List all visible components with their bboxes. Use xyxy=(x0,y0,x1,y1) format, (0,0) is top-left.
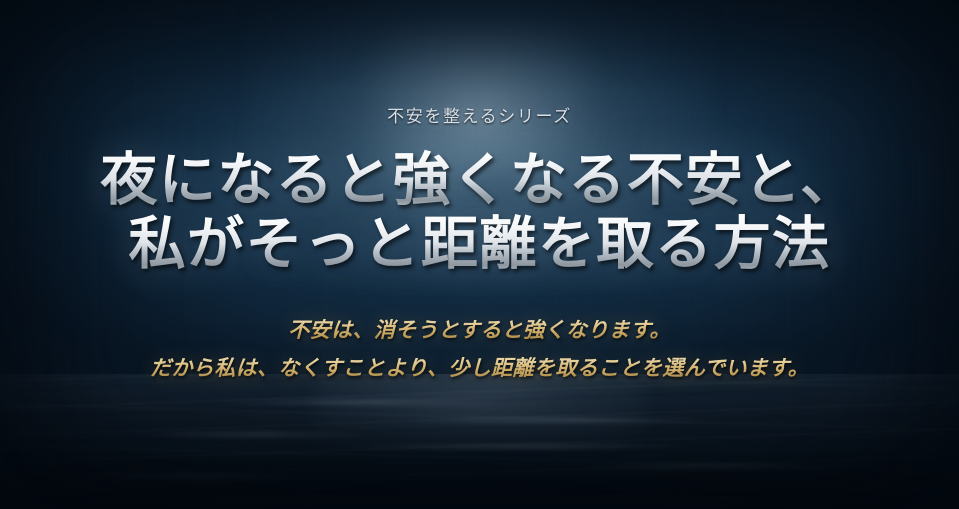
headline-line-1: 夜になると強くなる不安と、 xyxy=(0,149,959,213)
subtitle-line-1: 不安は、消そうとすると強くなります。 xyxy=(0,314,959,348)
page-title: 夜になると強くなる不安と、 私がそっと距離を取る方法 xyxy=(0,149,959,278)
hero-banner: 不安を整えるシリーズ 夜になると強くなる不安と、 私がそっと距離を取る方法 不安… xyxy=(0,0,959,509)
subtitle-line-2: だから私は、なくすことより、少し距離を取ることを選んでいます。 xyxy=(0,352,959,386)
wave-highlight xyxy=(120,432,380,437)
subtitle: 不安は、消そうとすると強くなります。 だから私は、なくすことより、少し距離を取る… xyxy=(0,314,959,386)
ocean-bottom-shadow xyxy=(0,447,959,509)
wave-highlight xyxy=(400,418,730,423)
headline-line-2: 私がそっと距離を取る方法 xyxy=(0,213,959,277)
ocean xyxy=(0,374,959,509)
hero-text-block: 不安を整えるシリーズ 夜になると強くなる不安と、 私がそっと距離を取る方法 不安… xyxy=(0,0,959,386)
series-eyebrow-label: 不安を整えるシリーズ xyxy=(0,108,959,125)
wave-highlight xyxy=(210,400,510,405)
